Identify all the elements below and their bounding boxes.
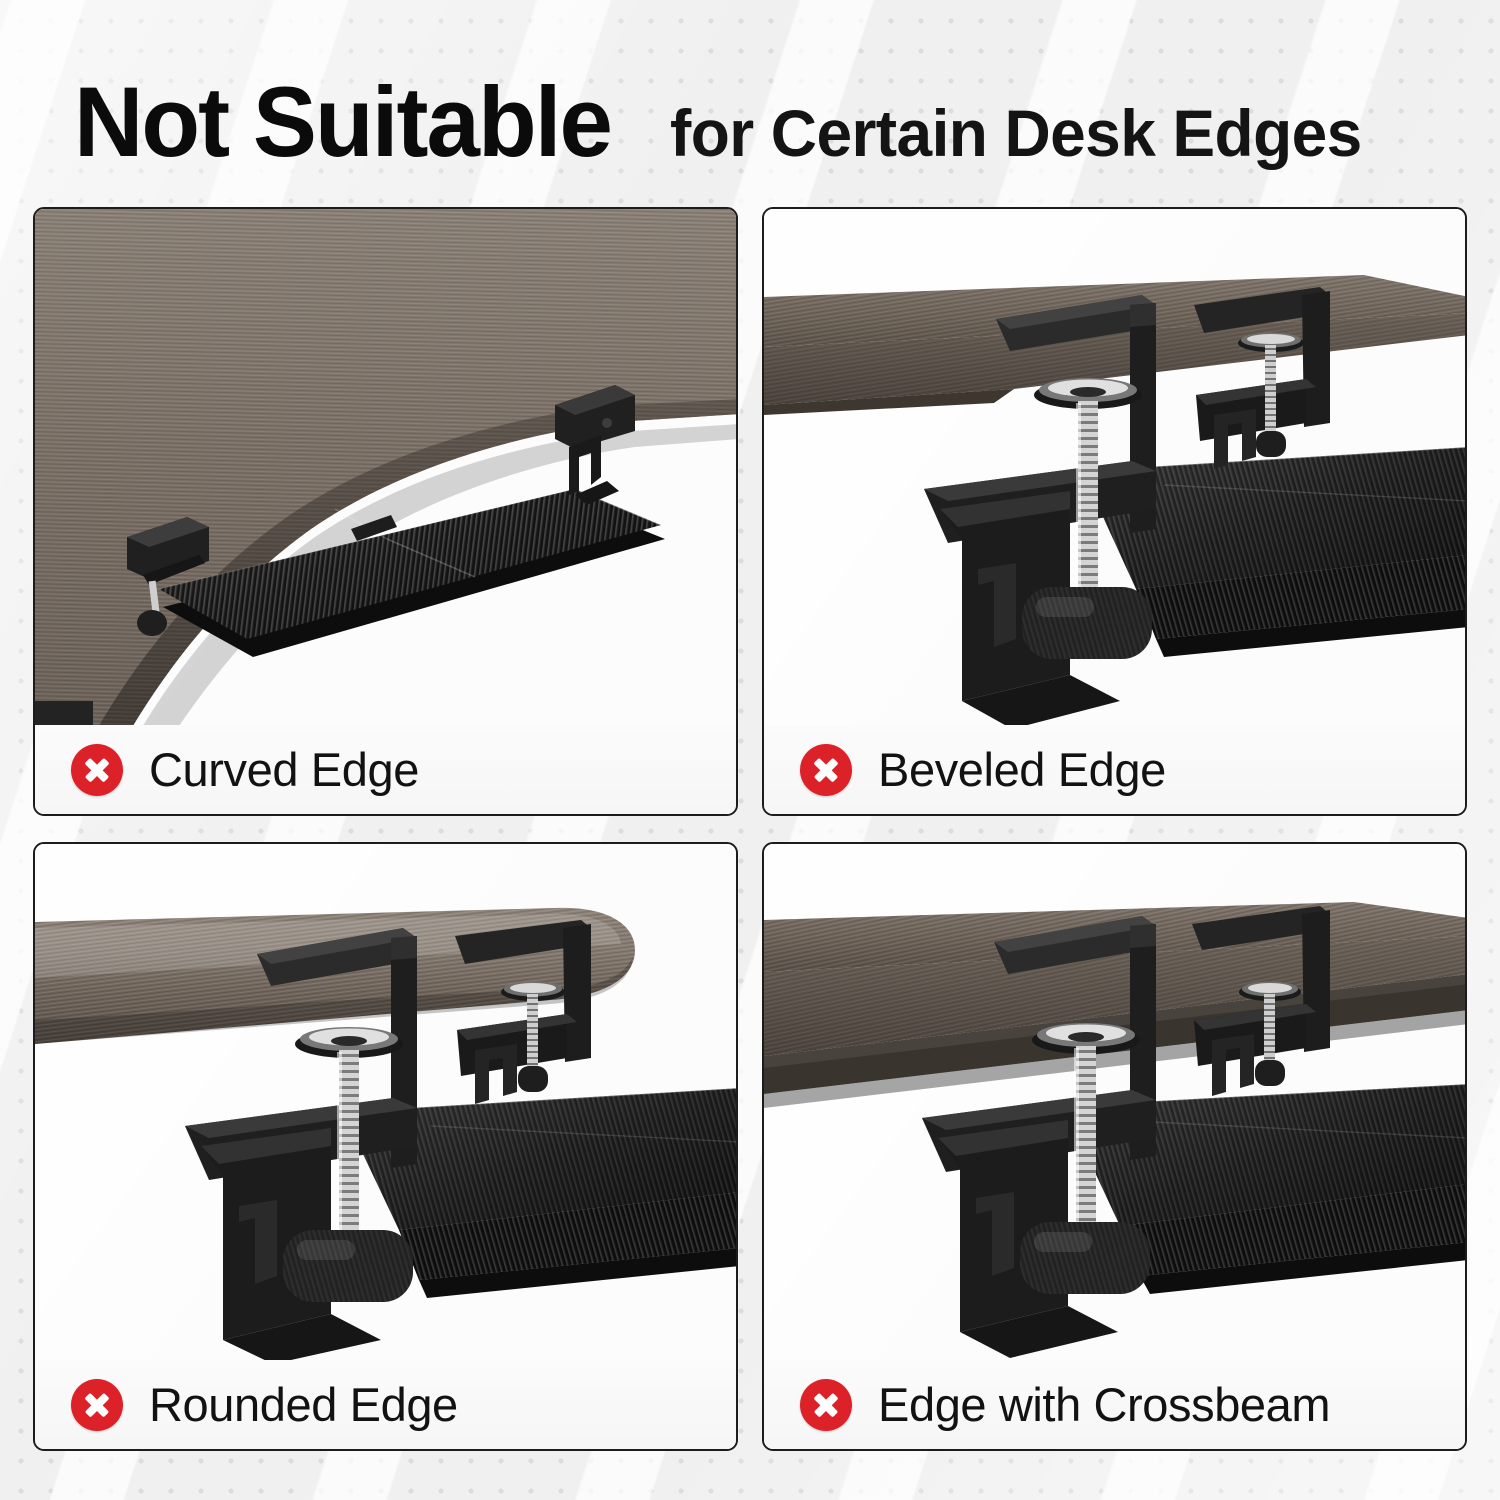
scene-curved-edge	[35, 209, 736, 729]
panel-label: Rounded Edge	[149, 1377, 458, 1432]
page-title: Not Suitable for Certain Desk Edges	[74, 74, 1474, 170]
panel-grid: Curved Edge	[33, 207, 1467, 1455]
panel-rounded-edge[interactable]: Rounded Edge	[33, 842, 738, 1451]
caption-edge-with-crossbeam: Edge with Crossbeam	[764, 1360, 1465, 1449]
x-mark-icon	[71, 1379, 123, 1431]
x-mark-icon	[800, 1379, 852, 1431]
panel-beveled-edge[interactable]: Beveled Edge	[762, 207, 1467, 816]
panel-label: Edge with Crossbeam	[878, 1377, 1330, 1432]
x-mark-icon	[800, 744, 852, 796]
desk-crossbeam-illustration	[764, 844, 1465, 1364]
panel-curved-edge[interactable]: Curved Edge	[33, 207, 738, 816]
panel-label: Beveled Edge	[878, 742, 1166, 797]
scene-rounded-edge	[35, 844, 736, 1364]
caption-beveled-edge: Beveled Edge	[764, 725, 1465, 814]
desk-beveled-illustration	[764, 209, 1465, 729]
title-light: for Certain Desk Edges	[670, 100, 1362, 166]
caption-rounded-edge: Rounded Edge	[35, 1360, 736, 1449]
x-mark-icon	[71, 744, 123, 796]
caption-curved-edge: Curved Edge	[35, 725, 736, 814]
scene-beveled-edge	[764, 209, 1465, 729]
desk-rounded-illustration	[35, 844, 736, 1364]
title-strong: Not Suitable	[74, 74, 611, 169]
panel-label: Curved Edge	[149, 742, 419, 797]
panel-edge-with-crossbeam[interactable]: Edge with Crossbeam	[762, 842, 1467, 1451]
keyboard-tray-curved	[35, 209, 736, 729]
scene-edge-with-crossbeam	[764, 844, 1465, 1364]
infographic-canvas: Not Suitable for Certain Desk Edges	[0, 0, 1500, 1500]
